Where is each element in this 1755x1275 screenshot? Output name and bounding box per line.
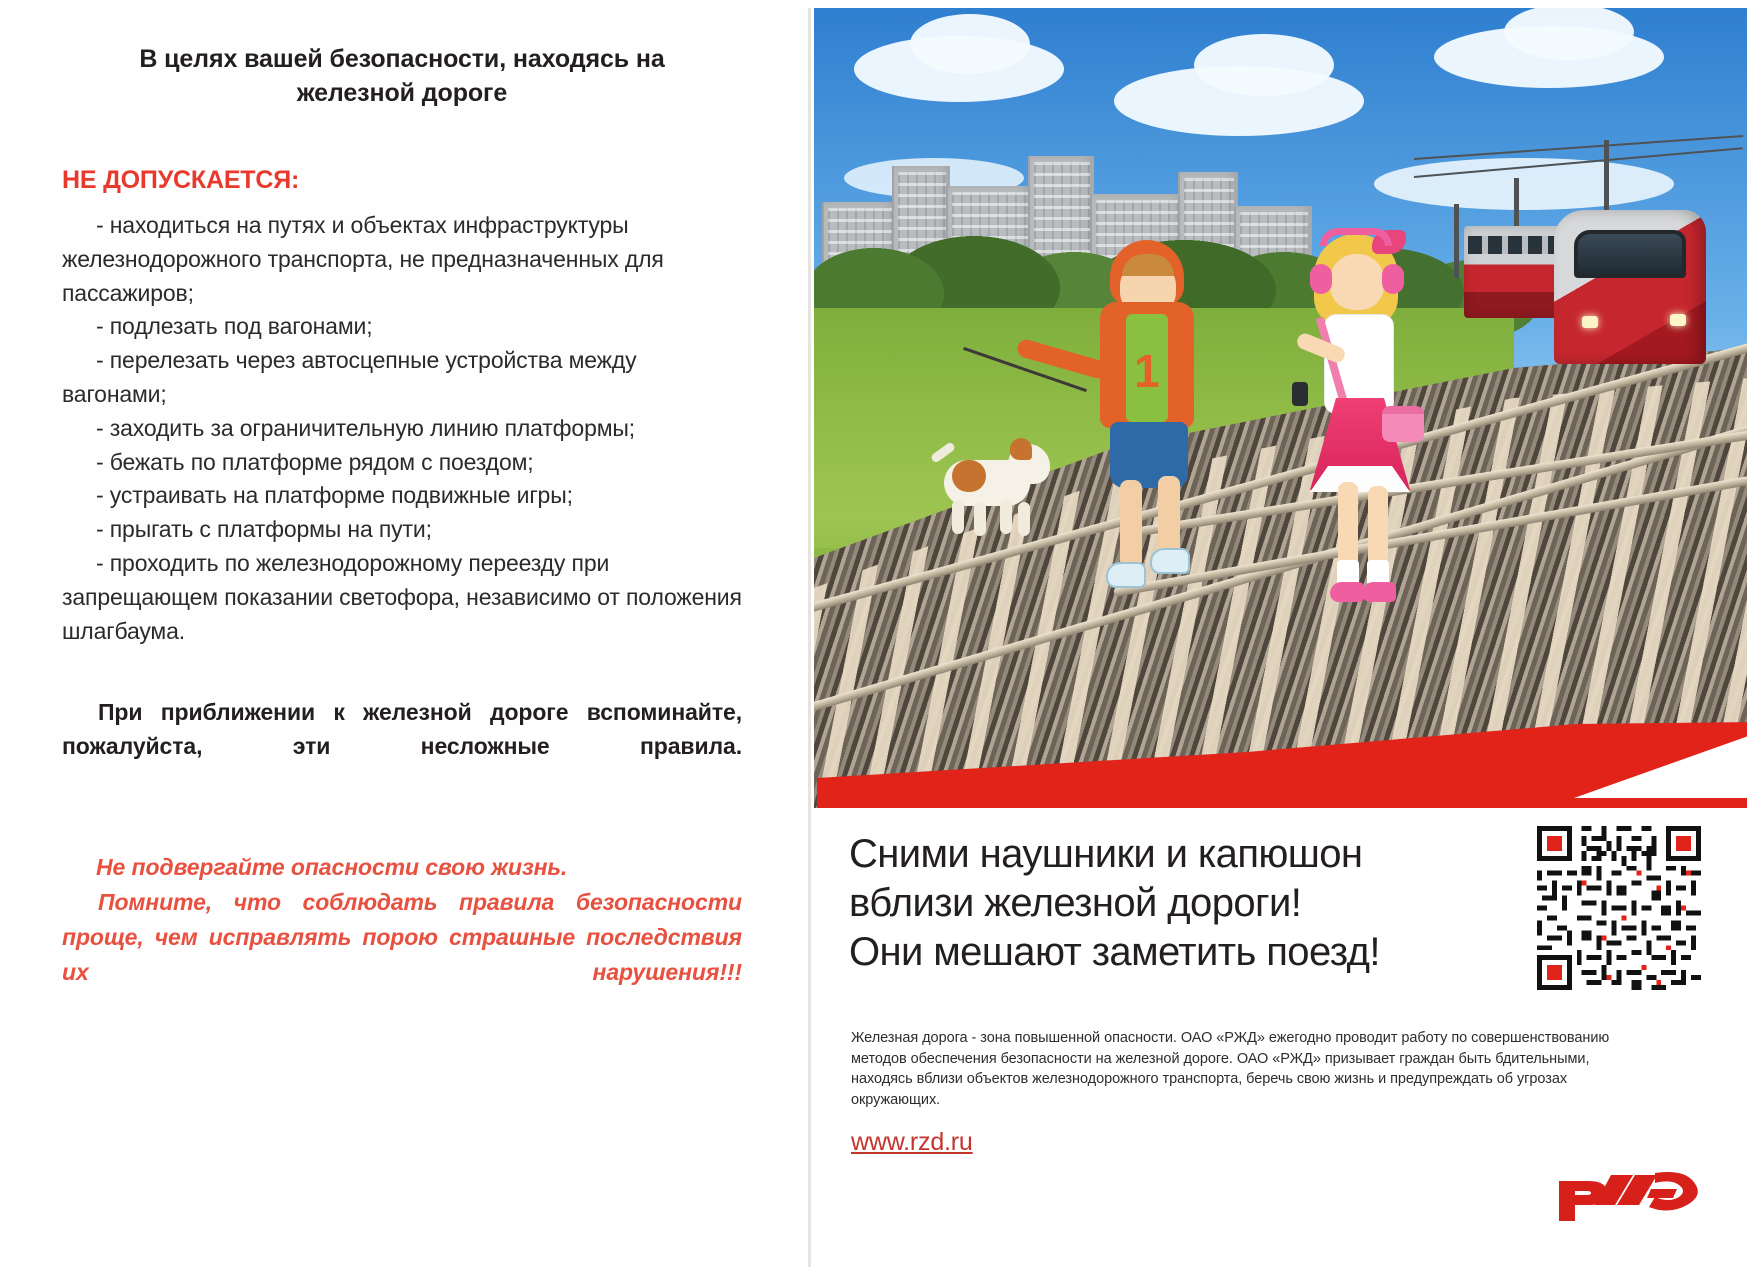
girl-character bbox=[1286, 230, 1436, 630]
poster-panel: 1 bbox=[800, 0, 1755, 1275]
dog-fur-patch bbox=[952, 460, 986, 492]
boy-shirt-number: 1 bbox=[1134, 348, 1160, 394]
warning-line: Не подвергайте опасности свою жизнь. bbox=[62, 850, 742, 885]
page-title: В целях вашей безопасности, находясь на … bbox=[62, 42, 742, 110]
headphones-icon bbox=[1320, 228, 1392, 246]
dog-leg bbox=[1018, 502, 1030, 536]
list-item: - перелезать через автосцепные устройств… bbox=[62, 344, 742, 412]
girl-shoe bbox=[1362, 582, 1396, 602]
prohibition-heading: НЕ ДОПУСКАЕТСЯ: bbox=[62, 166, 742, 195]
boy-leg bbox=[1158, 476, 1180, 556]
headlight-icon bbox=[1670, 314, 1686, 326]
dog-leg bbox=[974, 502, 986, 536]
dog-leg bbox=[952, 500, 964, 534]
boy-leg bbox=[1120, 480, 1142, 568]
poster-headline: Сними наушники и капюшон вблизи железной… bbox=[849, 830, 1469, 976]
headlight-icon bbox=[1582, 316, 1598, 328]
dog-ear bbox=[1010, 438, 1032, 460]
train-windshield bbox=[1574, 230, 1686, 278]
rules-list: - находиться на путях и объектах инфраст… bbox=[62, 209, 742, 648]
reminder-paragraph: При приближении к железной дороге вспоми… bbox=[62, 696, 742, 797]
catenary-wire bbox=[1414, 135, 1743, 160]
website-link[interactable]: www.rzd.ru bbox=[851, 1128, 973, 1157]
girl-face bbox=[1330, 254, 1384, 310]
list-item: - подлезать под вагонами; bbox=[62, 310, 742, 344]
safety-rules-panel: В целях вашей безопасности, находясь на … bbox=[0, 0, 800, 1275]
list-item: - находиться на путях и объектах инфраст… bbox=[62, 209, 742, 310]
legal-fineprint: Железная дорога - зона повышенной опасно… bbox=[851, 1028, 1641, 1110]
list-item: - проходить по железнодорожному переезду… bbox=[62, 547, 742, 648]
girl-shoe bbox=[1330, 582, 1364, 602]
illustration-railway-scene: 1 bbox=[814, 8, 1747, 808]
list-item: - бежать по платформе рядом с поездом; bbox=[62, 446, 742, 480]
catenary-pole bbox=[1454, 204, 1459, 278]
brochure-page: В целях вашей безопасности, находясь на … bbox=[0, 0, 1755, 1275]
train-lastochka bbox=[1486, 204, 1716, 374]
handbag-icon bbox=[1382, 406, 1424, 442]
phone-icon bbox=[1292, 382, 1308, 406]
cloud-icon bbox=[1194, 34, 1334, 96]
dog-leg bbox=[1000, 500, 1012, 534]
rzd-logo bbox=[1555, 1167, 1705, 1223]
warning-line: Помните, что соблюдать правила безопасно… bbox=[62, 885, 742, 1025]
cloud-icon bbox=[910, 14, 1030, 74]
warning-block: Не подвергайте опасности свою жизнь. Пом… bbox=[62, 850, 742, 1025]
boy-character: 1 bbox=[1076, 240, 1226, 610]
headline-line: вблизи железной дороги! bbox=[849, 879, 1469, 928]
headphone-cup bbox=[1382, 264, 1404, 294]
list-item: - устраивать на платформе подвижные игры… bbox=[62, 479, 742, 513]
list-item: - заходить за ограничительную линию плат… bbox=[62, 412, 742, 446]
boy-sneaker bbox=[1150, 548, 1190, 574]
dog-character bbox=[926, 438, 1056, 548]
rzd-poster: 1 bbox=[808, 8, 1747, 1267]
train-carriages bbox=[1464, 226, 1564, 318]
qr-code[interactable] bbox=[1537, 826, 1701, 990]
list-item: - прыгать с платформы на пути; bbox=[62, 513, 742, 547]
headphone-cup bbox=[1310, 264, 1332, 294]
headline-line: Сними наушники и капюшон bbox=[849, 830, 1469, 879]
dog-tail bbox=[930, 441, 956, 464]
boy-sneaker bbox=[1106, 562, 1146, 588]
headline-line: Они мешают заметить поезд! bbox=[849, 928, 1469, 977]
